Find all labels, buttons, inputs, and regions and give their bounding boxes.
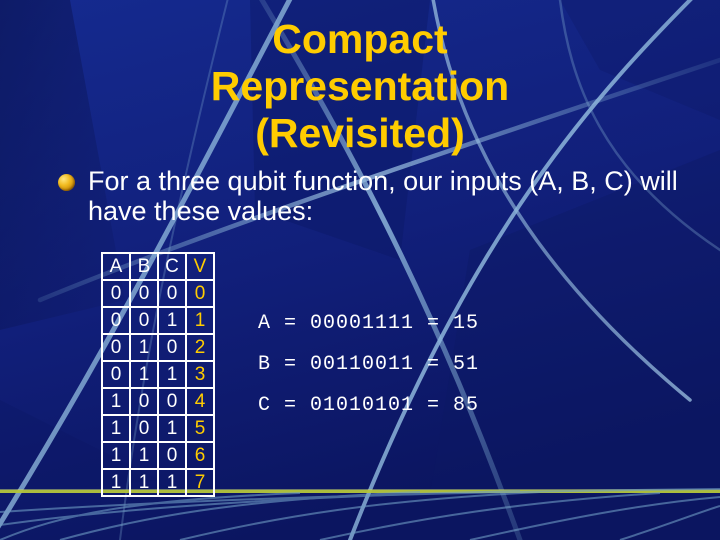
table-row: 0 1 1 3 <box>102 361 214 388</box>
title-line-1: Compact <box>0 16 720 63</box>
cell-b: 0 <box>130 388 158 415</box>
cell-b: 1 <box>130 334 158 361</box>
slide-canvas: Compact Representation (Revisited) For a… <box>0 0 720 540</box>
cell-c: 1 <box>158 361 186 388</box>
table-row: 1 1 0 6 <box>102 442 214 469</box>
cell-v: 6 <box>186 442 214 469</box>
gold-sphere-bullet-icon <box>58 174 75 191</box>
cell-c: 0 <box>158 388 186 415</box>
table-header-b: B <box>130 253 158 280</box>
cell-a: 0 <box>102 307 130 334</box>
cell-a: 1 <box>102 415 130 442</box>
title-line-3: (Revisited) <box>0 110 720 157</box>
table-row: 1 1 1 7 <box>102 469 214 496</box>
table-header-c: C <box>158 253 186 280</box>
table-row: 1 0 1 5 <box>102 415 214 442</box>
cell-a: 0 <box>102 334 130 361</box>
cell-v: 0 <box>186 280 214 307</box>
cell-b: 0 <box>130 307 158 334</box>
table-header-row: A B C V <box>102 253 214 280</box>
cell-a: 0 <box>102 361 130 388</box>
cell-b: 1 <box>130 361 158 388</box>
cell-c: 1 <box>158 415 186 442</box>
cell-v: 2 <box>186 334 214 361</box>
cell-c: 1 <box>158 307 186 334</box>
cell-c: 0 <box>158 442 186 469</box>
equation-c: C = 01010101 = 85 <box>258 385 479 426</box>
cell-c: 1 <box>158 469 186 496</box>
cell-a: 1 <box>102 388 130 415</box>
cell-v: 5 <box>186 415 214 442</box>
truth-table: A B C V 0 0 0 0 0 0 1 1 0 <box>101 252 215 497</box>
cell-c: 0 <box>158 334 186 361</box>
table-row: 0 1 0 2 <box>102 334 214 361</box>
table-row: 0 0 1 1 <box>102 307 214 334</box>
cell-b: 0 <box>130 280 158 307</box>
cell-a: 1 <box>102 469 130 496</box>
bullet-paragraph: For a three qubit function, our inputs (… <box>58 166 678 226</box>
cell-v: 7 <box>186 469 214 496</box>
cell-v: 3 <box>186 361 214 388</box>
cell-b: 1 <box>130 442 158 469</box>
cell-b: 1 <box>130 469 158 496</box>
cell-c: 0 <box>158 280 186 307</box>
bullet-text: For a three qubit function, our inputs (… <box>88 166 678 226</box>
table-row: 0 0 0 0 <box>102 280 214 307</box>
cell-v: 1 <box>186 307 214 334</box>
equation-b: B = 00110011 = 51 <box>258 344 479 385</box>
cell-a: 0 <box>102 280 130 307</box>
cell-a: 1 <box>102 442 130 469</box>
table-header-v: V <box>186 253 214 280</box>
cell-b: 0 <box>130 415 158 442</box>
slide-title: Compact Representation (Revisited) <box>0 16 720 157</box>
title-line-2: Representation <box>0 63 720 110</box>
cell-v: 4 <box>186 388 214 415</box>
equation-list: A = 00001111 = 15 B = 00110011 = 51 C = … <box>258 303 479 426</box>
equation-a: A = 00001111 = 15 <box>258 303 479 344</box>
table-row: 1 0 0 4 <box>102 388 214 415</box>
table-header-a: A <box>102 253 130 280</box>
